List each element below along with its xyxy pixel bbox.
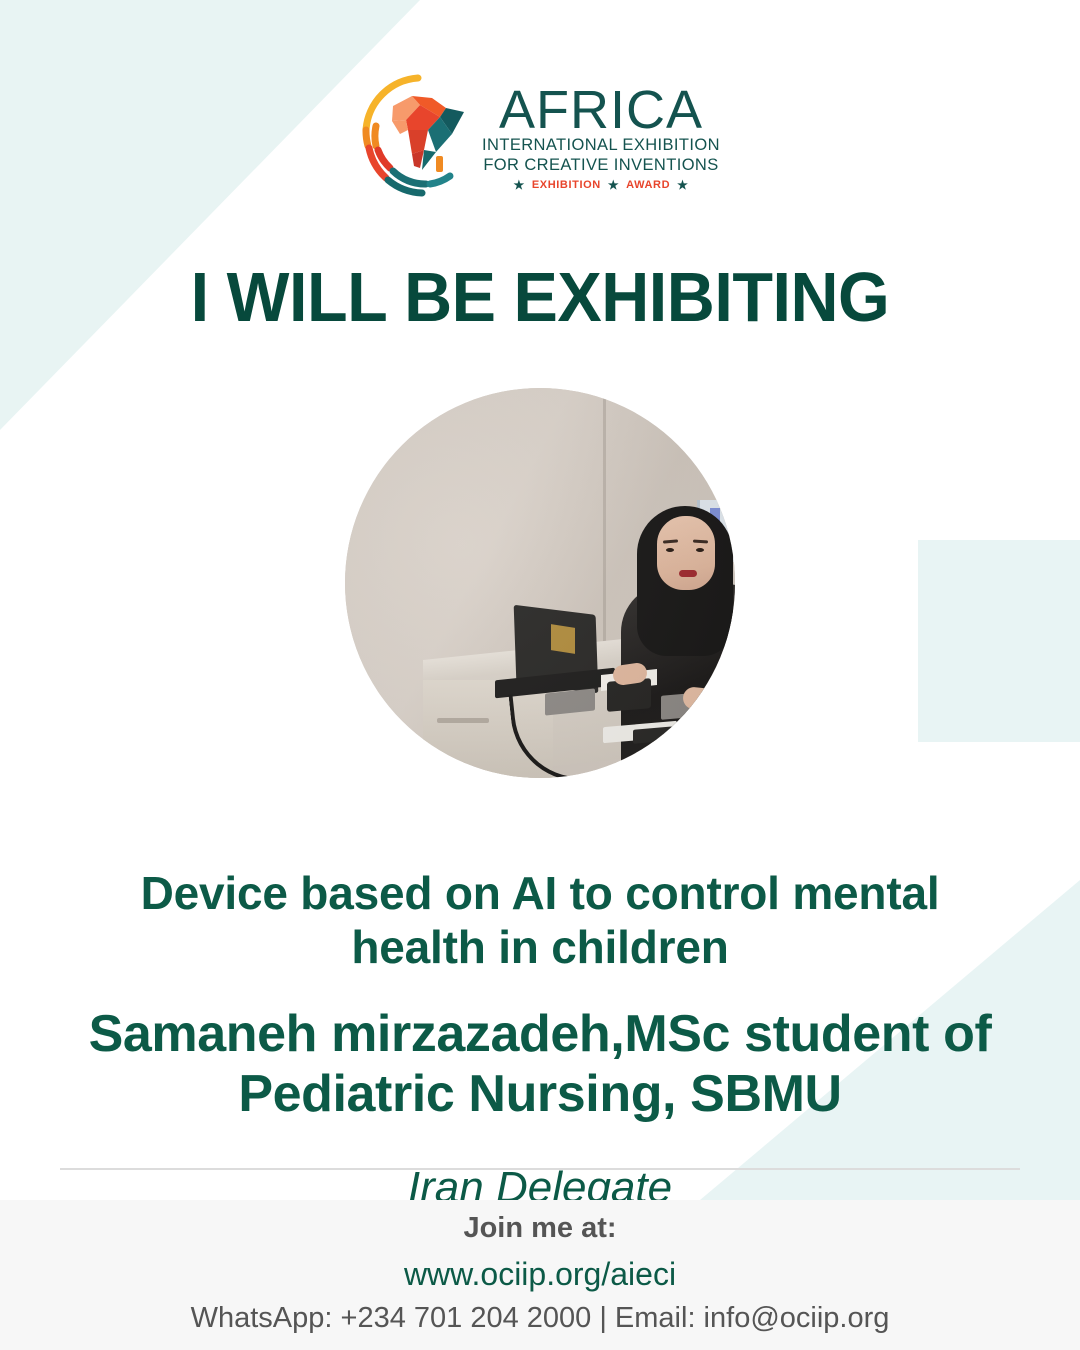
logo-subtitle-line1: INTERNATIONAL EXHIBITION (482, 136, 720, 155)
logo-award-exhibition: EXHIBITION (532, 179, 601, 191)
poster-canvas: AFRICA INTERNATIONAL EXHIBITION FOR CREA… (0, 0, 1080, 1350)
page-title: I WILL BE EXHIBITING (27, 262, 1053, 332)
logo-title: AFRICA (499, 85, 703, 136)
logo-award-strip: ★ EXHIBITION ★ AWARD ★ (514, 179, 689, 191)
footer-website-link[interactable]: www.ociip.org/aieci (0, 1254, 1080, 1294)
event-logo: AFRICA INTERNATIONAL EXHIBITION FOR CREA… (0, 72, 1080, 200)
star-icon: ★ (514, 179, 525, 191)
footer-bar: Join me at: www.ociip.org/aieci WhatsApp… (0, 1200, 1080, 1350)
footer-join-label: Join me at: (0, 1210, 1080, 1246)
star-icon: ★ (677, 179, 688, 191)
footer-contact-line[interactable]: WhatsApp: +234 701 204 2000 | Email: inf… (0, 1300, 1080, 1336)
photo-shading-overlay (345, 388, 735, 778)
star-icon: ★ (608, 179, 619, 191)
africa-map-logo-icon (360, 72, 478, 200)
logo-subtitle-line2: FOR CREATIVE INVENTIONS (483, 156, 718, 175)
presenter-portrait (345, 388, 735, 778)
portrait-frame (345, 388, 735, 778)
invention-title: Device based on AI to control mental hea… (90, 866, 990, 975)
presenter-name: Samaneh mirzazadeh,MSc student of Pediat… (55, 1004, 1025, 1125)
logo-award-award: AWARD (626, 179, 670, 191)
